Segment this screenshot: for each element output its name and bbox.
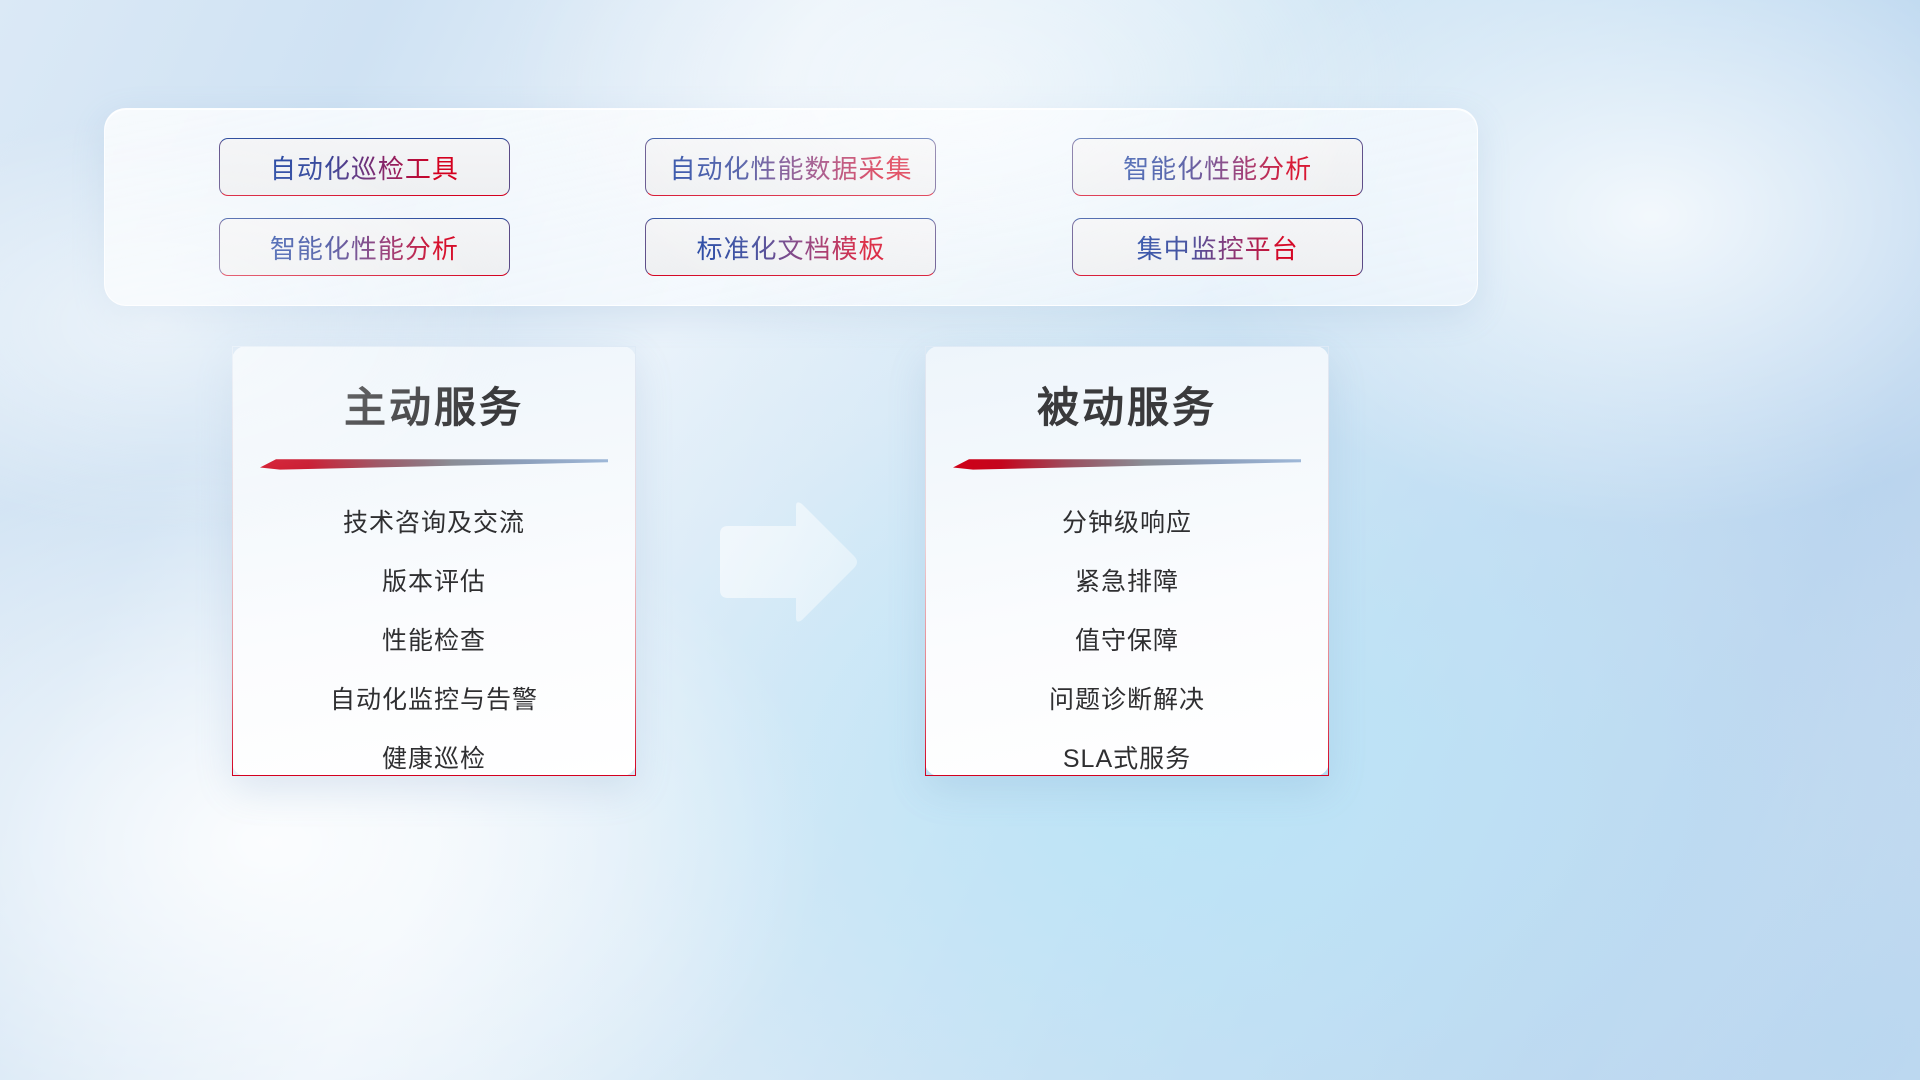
- title-divider: [260, 457, 608, 470]
- card-item: 问题诊断解决: [1049, 671, 1205, 730]
- service-card-reactive: 被动服务 分钟级响应 紧急排障 值守保障: [925, 346, 1329, 776]
- capability-pill[interactable]: 集中监控平台: [1072, 218, 1363, 276]
- card-item: 版本评估: [382, 553, 486, 612]
- capability-pill[interactable]: 标准化文档模板: [645, 218, 936, 276]
- capability-panel: 自动化巡检工具 自动化性能数据采集 智能化性能分析 智能化性能分析 标准化文档模…: [104, 108, 1478, 306]
- capability-pill[interactable]: 自动化性能数据采集: [645, 138, 936, 196]
- service-card-proactive: 主动服务 技术咨询及交流 版本评估 性能检查: [232, 346, 636, 776]
- card-item-list: 技术咨询及交流 版本评估 性能检查 自动化监控与告警 健康巡检: [259, 494, 609, 789]
- capability-pill-label: 自动化性能数据采集: [669, 149, 912, 186]
- card-title: 被动服务: [1037, 385, 1217, 431]
- arrow-right-icon: [712, 500, 860, 624]
- card-item: SLA式服务: [1063, 730, 1191, 789]
- slide-canvas: 自动化巡检工具 自动化性能数据采集 智能化性能分析 智能化性能分析 标准化文档模…: [0, 0, 1920, 1080]
- card-item: 技术咨询及交流: [343, 494, 525, 553]
- capability-pill-label: 自动化巡检工具: [270, 149, 459, 186]
- capability-pill-label: 集中监控平台: [1137, 229, 1299, 266]
- capability-pill[interactable]: 智能化性能分析: [219, 218, 510, 276]
- capability-pill-label: 智能化性能分析: [270, 229, 459, 266]
- card-item: 性能检查: [382, 612, 486, 671]
- card-item: 健康巡检: [382, 730, 486, 789]
- capability-pill[interactable]: 智能化性能分析: [1072, 138, 1363, 196]
- capability-pill-label: 智能化性能分析: [1123, 149, 1312, 186]
- card-item: 分钟级响应: [1062, 494, 1192, 553]
- card-item: 值守保障: [1075, 612, 1179, 671]
- card-title: 主动服务: [344, 385, 524, 431]
- card-item: 紧急排障: [1075, 553, 1179, 612]
- card-item-list: 分钟级响应 紧急排障 值守保障 问题诊断解决 SLA式服务: [952, 494, 1302, 789]
- capability-pill-label: 标准化文档模板: [696, 229, 885, 266]
- title-divider: [953, 457, 1301, 470]
- capability-pill[interactable]: 自动化巡检工具: [219, 138, 510, 196]
- card-item: 自动化监控与告警: [330, 671, 538, 730]
